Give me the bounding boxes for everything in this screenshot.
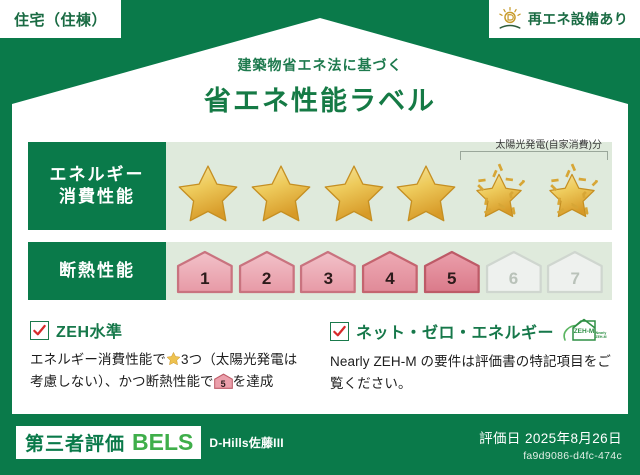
inline-star-icon xyxy=(166,351,181,366)
insulation-grade-4-value: 4 xyxy=(361,269,419,289)
title-subtitle: 建築物省エネ法に基づく xyxy=(0,55,640,75)
star-rating-group xyxy=(174,160,606,226)
footer-eval-group: 評価日 2025年8月26日 fa9d9086-d4fc-474c xyxy=(479,427,622,462)
zeh-standard-body: エネルギー消費性能で3つ（太陽光発電は考慮しない）、かつ断熱性能で5を達成 xyxy=(30,349,308,393)
renewable-badge-label: 再エネ設備あり xyxy=(528,9,628,29)
inline-grade-value: 5 xyxy=(214,380,233,389)
footer-bels-group: 第三者評価 BELS D-Hills佐藤III xyxy=(16,426,284,459)
check-icon xyxy=(332,324,347,339)
star-icon-2 xyxy=(247,162,315,224)
insulation-grade-group: 1 2 3 xyxy=(176,248,604,296)
net-zero-checkbox[interactable] xyxy=(330,322,349,341)
net-zero-header: ネット・ゼロ・エネルギー ZEH-M Nearly ZEH-M xyxy=(330,318,616,344)
energy-label-line2: 消費性能 xyxy=(59,186,135,208)
insulation-grade-6-value: 6 xyxy=(485,269,543,289)
net-zero-energy-note: ネット・ゼロ・エネルギー ZEH-M Nearly ZEH-M Nearly Z… xyxy=(330,318,616,395)
project-name: D-Hills佐藤III xyxy=(209,434,283,451)
insulation-label: 断熱性能 xyxy=(59,260,135,282)
zeh-standard-header: ZEH水準 xyxy=(30,318,308,342)
evaluation-id: fa9d9086-d4fc-474c xyxy=(479,450,622,462)
building-type-badge: 住宅（住棟） xyxy=(0,0,121,38)
insulation-grade-3: 3 xyxy=(299,250,357,294)
star-icon-1 xyxy=(174,162,242,224)
label-title-block: 建築物省エネ法に基づく 省エネ性能ラベル xyxy=(0,55,640,118)
bels-label: BELS xyxy=(132,429,193,456)
star-icon-6-solar xyxy=(538,162,606,224)
energy-performance-row: エネルギー 消費性能 太陽光発電(自家消費)分 xyxy=(28,142,612,230)
star-icon-5-solar xyxy=(465,162,533,224)
evaluation-date-value: 2025年8月26日 xyxy=(525,431,622,446)
building-type-label: 住宅（住棟） xyxy=(14,9,107,30)
zeh-body-part1: エネルギー消費性能で xyxy=(30,352,166,367)
net-zero-title: ネット・ゼロ・エネルギー xyxy=(356,319,554,343)
zeh-standard-note: ZEH水準 エネルギー消費性能で3つ（太陽光発電は考慮しない）、かつ断熱性能で5… xyxy=(30,318,308,393)
solar-portion-bracket xyxy=(460,151,608,160)
star-icon-4 xyxy=(392,162,460,224)
evaluation-date-label: 評価日 xyxy=(479,431,521,446)
energy-label-line1: エネルギー xyxy=(50,164,145,186)
renewable-equipment-badge: 再エネ設備あり xyxy=(489,0,640,38)
star-icon-3 xyxy=(320,162,388,224)
insulation-grade-7: 7 xyxy=(546,250,604,294)
insulation-performance-row: 断熱性能 1 2 xyxy=(28,242,612,300)
check-icon xyxy=(32,323,47,338)
svg-text:Nearly: Nearly xyxy=(596,331,607,335)
energy-stars-band: 太陽光発電(自家消費)分 xyxy=(166,142,612,230)
zeh-m-logo-icon: ZEH-M Nearly ZEH-M xyxy=(561,318,607,344)
zeh-body-part3: を達成 xyxy=(233,374,274,389)
net-zero-body: Nearly ZEH-M の要件は評価書の特記項目をご覧ください。 xyxy=(330,351,616,395)
insulation-grade-2-value: 2 xyxy=(238,269,296,289)
svg-text:ZEH-M: ZEH-M xyxy=(595,335,606,339)
sun-solar-icon xyxy=(497,6,523,32)
insulation-grade-6: 6 xyxy=(485,250,543,294)
insulation-label-box: 断熱性能 xyxy=(28,242,166,300)
insulation-grade-3-value: 3 xyxy=(299,269,357,289)
label-footer: 第三者評価 BELS D-Hills佐藤III 評価日 2025年8月26日 f… xyxy=(0,414,640,475)
insulation-grade-2: 2 xyxy=(238,250,296,294)
energy-performance-label-box: エネルギー 消費性能 xyxy=(28,142,166,230)
svg-text:ZEH-M: ZEH-M xyxy=(574,328,595,335)
third-party-label: 第三者評価 xyxy=(25,429,125,456)
inline-grade-badge: 5 xyxy=(214,373,233,389)
insulation-grades-band: 1 2 3 xyxy=(166,242,612,300)
insulation-grade-7-value: 7 xyxy=(546,269,604,289)
title-main: 省エネ性能ラベル xyxy=(0,79,640,118)
energy-performance-label: 住宅（住棟） 再エネ設備あり 建築物省エネ法に基づく 省エネ性能ラベル エネルギ… xyxy=(0,0,640,475)
insulation-grade-4: 4 xyxy=(361,250,419,294)
evaluation-date: 評価日 2025年8月26日 xyxy=(479,427,622,447)
insulation-grade-1-value: 1 xyxy=(176,269,234,289)
zeh-standard-checkbox[interactable] xyxy=(30,321,49,340)
insulation-grade-5-value: 5 xyxy=(423,269,481,289)
zeh-standard-title: ZEH水準 xyxy=(56,318,123,342)
insulation-grade-5: 5 xyxy=(423,250,481,294)
insulation-grade-1: 1 xyxy=(176,250,234,294)
solar-portion-caption: 太陽光発電(自家消費)分 xyxy=(495,136,602,151)
bels-badge: 第三者評価 BELS xyxy=(16,426,201,459)
